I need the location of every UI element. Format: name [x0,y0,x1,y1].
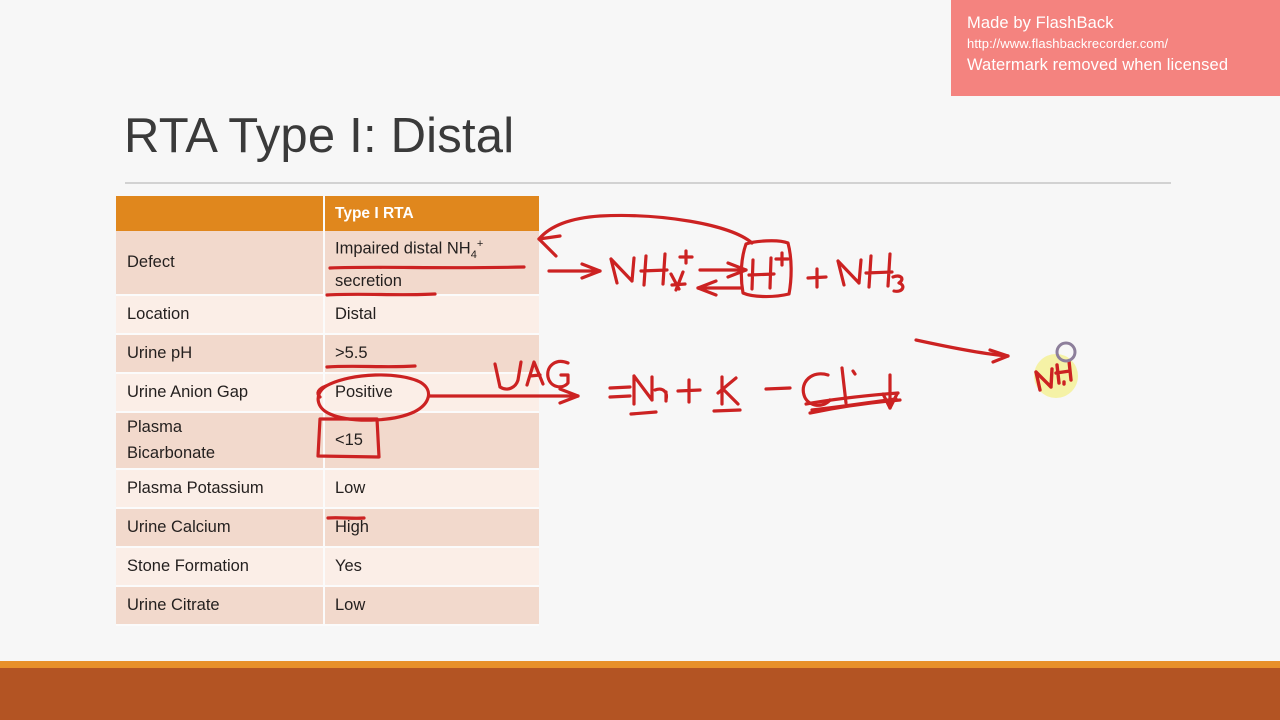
ink-equals-sign [610,387,630,397]
ink-letter-G-uag [548,361,568,386]
ink-strike-cl-2 [810,400,900,413]
watermark-notice: Watermark removed when licensed [967,54,1280,77]
flashback-watermark: Made by FlashBack http://www.flashbackre… [951,0,1280,96]
ink-letter-l-cl [842,368,846,403]
watermark-url: http://www.flashbackrecorder.com/ [967,34,1280,54]
row-value-location: Distal [324,295,539,334]
table-row: Urine Calcium High [116,508,539,547]
ink-letter-N-na [634,376,652,404]
ink-letter-K [718,377,738,404]
row-label-urine-ph: Urine pH [116,334,324,373]
table-row: PlasmaBicarbonate <15 [116,412,539,469]
slide-canvas: Made by FlashBack http://www.flashbackre… [0,0,1280,720]
column-header-attribute [116,196,324,231]
row-label-urine-calcium: Urine Calcium [116,508,324,547]
ink-equilibrium-top-head [728,263,746,277]
row-value-defect: Impaired distal NH4+ secretion [324,231,539,295]
ink-letter-a-na [655,389,666,401]
ink-strike-cl-3 [812,399,896,410]
ink-plus-na-k [678,380,700,402]
ink-arrowhead-to-note [990,350,1008,362]
highlight-blob [1034,354,1078,398]
row-label-plasma-bicarbonate: PlasmaBicarbonate [116,412,324,469]
row-value-plasma-potassium: Low [324,469,539,508]
ink-letter-H [641,254,667,285]
table-row: Urine Anion Gap Positive [116,373,539,412]
row-label-urine-citrate: Urine Citrate [116,586,324,625]
row-value-stone-formation: Yes [324,547,539,586]
table-row: Urine Citrate Low [116,586,539,625]
rta-comparison-table: Type I RTA Defect Impaired distal NH4+ s… [116,196,539,626]
ink-arrowhead-feedback [539,236,560,256]
column-header-type-i-rta: Type I RTA [324,196,539,231]
table-row: Urine pH >5.5 [116,334,539,373]
ink-subscript-3 [893,276,903,291]
ink-letter-H-plus [749,258,774,289]
row-label-defect: Defect [116,231,324,295]
bottom-accent-stripe [0,661,1280,668]
ink-box-hplus [741,241,791,297]
row-value-plasma-bicarbonate: <15 [324,412,539,469]
ink-superscript-plus-nh4 [680,251,692,263]
ink-letter-H-nh3 [866,254,892,287]
table-header-row: Type I RTA [116,196,539,231]
ink-equilibrium-bottom-head [698,281,716,295]
row-label-stone-formation: Stone Formation [116,547,324,586]
page-title: RTA Type I: Distal [124,108,514,164]
ink-arrowhead-to-nh4 [582,264,600,278]
ink-subscript-4 [671,272,685,290]
ink-arrow-to-note [916,340,1008,356]
ink-superscript-plus-hplus [776,253,788,265]
title-divider [125,182,1171,184]
ink-letter-N [611,258,634,283]
table-row: Plasma Potassium Low [116,469,539,508]
ink-strike-cl-1 [806,393,898,404]
pen-cursor-ring [1057,343,1075,361]
ink-minus-sign [766,388,790,389]
ink-underline-k [714,410,740,411]
row-label-plasma-potassium: Plasma Potassium [116,469,324,508]
ink-curved-arrow-feedback [539,216,752,243]
ink-plus-sign [808,269,826,287]
row-label-urine-anion-gap: Urine Anion Gap [116,373,324,412]
row-value-urine-anion-gap: Positive [324,373,539,412]
watermark-title: Made by FlashBack [967,12,1280,34]
row-value-urine-calcium: High [324,508,539,547]
ink-dot-cl [853,371,855,374]
bottom-color-band [0,668,1280,720]
row-value-urine-ph: >5.5 [324,334,539,373]
table-row: Stone Formation Yes [116,547,539,586]
ink-letter-N-nh3 [838,260,861,285]
row-label-location: Location [116,295,324,334]
ink-note-nh [1036,361,1071,390]
row-value-urine-citrate: Low [324,586,539,625]
table-row: Location Distal [116,295,539,334]
ink-down-arrow-head [883,394,897,408]
table-row: Defect Impaired distal NH4+ secretion [116,231,539,295]
ink-arrowhead-uag [560,389,578,403]
ink-underline-na [631,412,656,414]
ink-letter-C-cl [803,374,830,405]
